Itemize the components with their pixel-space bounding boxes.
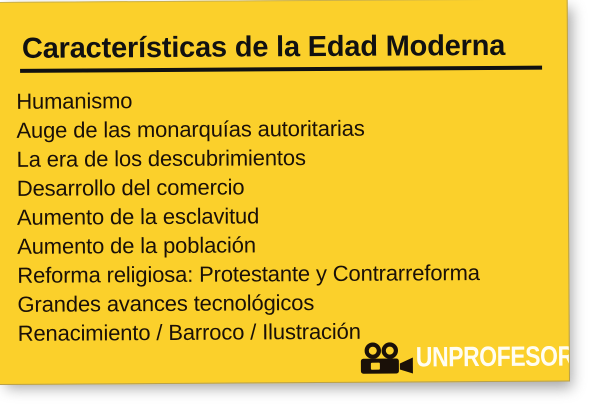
list-item: Reforma religiosa: Protestante y Contrar… xyxy=(17,258,562,290)
list-item: Desarrollo del comercio xyxy=(17,171,562,203)
page-title: Características de la Edad Moderna xyxy=(22,32,505,64)
list-item: Humanismo xyxy=(16,84,561,116)
card-inner: Características de la Edad Moderna Human… xyxy=(0,0,569,384)
content-card: Características de la Edad Moderna Human… xyxy=(0,0,570,385)
list-item: Aumento de la población xyxy=(17,229,562,261)
title-underline xyxy=(20,66,542,73)
brand-logo: UNPROFESOR xyxy=(359,340,559,377)
list-item: Grandes avances tecnológicos xyxy=(17,287,562,319)
characteristics-list: Humanismo Auge de las monarquías autorit… xyxy=(16,84,563,348)
list-item: Auge de las monarquías autoritarias xyxy=(16,113,561,145)
list-item: Aumento de la esclavitud xyxy=(17,200,562,232)
slide-canvas: Características de la Edad Moderna Human… xyxy=(0,0,600,413)
list-item: La era de los descubrimientos xyxy=(17,142,562,174)
brand-wordmark: UNPROFESOR xyxy=(416,341,570,372)
movie-camera-icon xyxy=(359,341,415,375)
